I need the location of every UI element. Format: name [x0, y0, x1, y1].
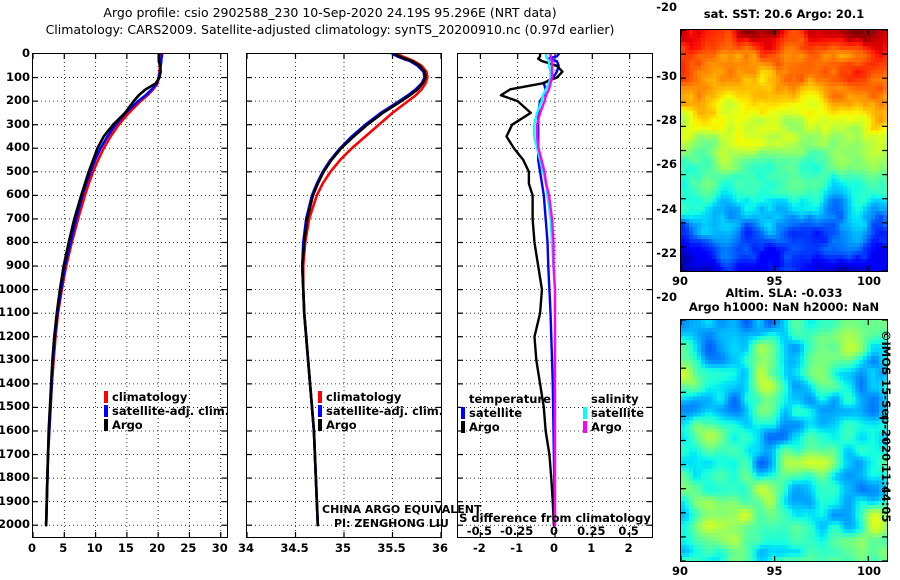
y-tick-label-1200: 1200 [0, 329, 30, 343]
y-tick-label-1000: 1000 [0, 282, 30, 296]
legend-label-climatology: climatology [112, 390, 187, 404]
y-tick-label-2000: 2000 [0, 517, 30, 531]
legend-label-argo-s: Argo [326, 418, 357, 432]
sst-map-title: sat. SST: 20.6 Argo: 20.1 [672, 7, 896, 21]
y-tick-label-1100: 1100 [0, 305, 30, 319]
y-tick-label-500: 500 [0, 164, 30, 178]
legend-swatch-temp-argo [461, 421, 465, 433]
difference-profile-panel [457, 53, 653, 538]
sla-map-y-tick--24: -24 [637, 202, 677, 216]
y-tick-label-100: 100 [0, 70, 30, 84]
pi-credit: PI: ZENGHONG LIU [334, 517, 449, 530]
sst-map-panel [680, 29, 888, 272]
sla-map-x-tick-90: 90 [650, 564, 710, 578]
imos-credit: ©IMOS 15-Sep-2020 11:44:05 [879, 330, 893, 522]
y-tick-label-300: 300 [0, 117, 30, 131]
y-tick-label-900: 900 [0, 258, 30, 272]
y-tick-label-800: 800 [0, 234, 30, 248]
page-title-line2: Climatology: CARS2009. Satellite-adjuste… [0, 22, 660, 37]
legend-group-title-salinity: salinity [583, 392, 644, 406]
difference-legend-salinity: salinity satellite Argo [583, 392, 644, 434]
sla-map-y-tick--20: -20 [637, 290, 677, 304]
y-tick-label-700: 700 [0, 211, 30, 225]
y-tick-label-1500: 1500 [0, 399, 30, 413]
y-tick-label-1800: 1800 [0, 470, 30, 484]
legend-label-satellite-adj-s: satellite-adj. clim. [326, 404, 443, 418]
legend-label-climatology-s: climatology [326, 390, 401, 404]
sla-map-x-tick-100: 100 [839, 564, 899, 578]
legend-label-sal-argo: Argo [591, 420, 622, 434]
x-tick-label-dT-4: 2 [599, 541, 659, 555]
sla-map-title-line2: Argo h1000: NaN h2000: NaN [672, 300, 896, 314]
legend-swatch-sal-argo [583, 421, 587, 433]
y-tick-label-1700: 1700 [0, 447, 30, 461]
legend-swatch-argo-s [318, 419, 322, 431]
temperature-legend: climatology satellite-adj. clim. Argo [104, 390, 229, 432]
program-credit: CHINA ARGO EQUIVALENT [322, 503, 482, 516]
legend-label-sal-satellite: satellite [591, 406, 644, 420]
legend-label-temp-satellite: satellite [469, 406, 522, 420]
y-tick-label-1300: 1300 [0, 352, 30, 366]
legend-swatch-climatology-s [318, 391, 322, 403]
sla-map-x-tick-95: 95 [745, 564, 805, 578]
difference-legend-temperature: temperature satellite Argo [461, 392, 551, 434]
legend-label-satellite-adj: satellite-adj. clim. [112, 404, 229, 418]
legend-swatch-satellite-adj [104, 405, 108, 417]
sla-map-y-tick--28: -28 [637, 113, 677, 127]
legend-label-temp-argo: Argo [469, 420, 500, 434]
y-tick-label-0: 0 [0, 46, 30, 60]
salinity-legend: climatology satellite-adj. clim. Argo [318, 390, 443, 432]
y-tick-label-1400: 1400 [0, 376, 30, 390]
sla-map-y-tick--26: -26 [637, 157, 677, 171]
sla-map-panel [680, 319, 888, 562]
legend-swatch-climatology [104, 391, 108, 403]
y-tick-label-400: 400 [0, 140, 30, 154]
legend-swatch-satellite-adj-s [318, 405, 322, 417]
y-tick-label-600: 600 [0, 187, 30, 201]
y-tick-label-200: 200 [0, 93, 30, 107]
sla-map-title-line1: Altim. SLA: -0.033 [672, 286, 896, 300]
page-title-line1: Argo profile: csio 2902588_230 10-Sep-20… [0, 5, 660, 20]
legend-swatch-sal-satellite [583, 407, 587, 419]
sla-map-y-tick--22: -22 [637, 246, 677, 260]
sst-map-x-tick-95: 95 [745, 274, 805, 288]
sst-map-x-tick-100: 100 [839, 274, 899, 288]
y-tick-label-1900: 1900 [0, 494, 30, 508]
sst-map-y-tick--20: -20 [637, 0, 677, 14]
difference-panel-title: S difference from climatology [457, 511, 653, 525]
y-tick-label-1600: 1600 [0, 423, 30, 437]
legend-label-argo: Argo [112, 418, 143, 432]
legend-swatch-temp-satellite [461, 407, 465, 419]
x-tick-label-dS-4: 0.5 [599, 524, 659, 538]
legend-swatch-argo [104, 419, 108, 431]
temperature-profile-panel [32, 53, 228, 538]
sst-map-x-tick-90: 90 [650, 274, 710, 288]
legend-group-title-temperature: temperature [461, 392, 551, 406]
sla-map-y-tick--30: -30 [637, 69, 677, 83]
salinity-profile-panel [246, 53, 442, 538]
